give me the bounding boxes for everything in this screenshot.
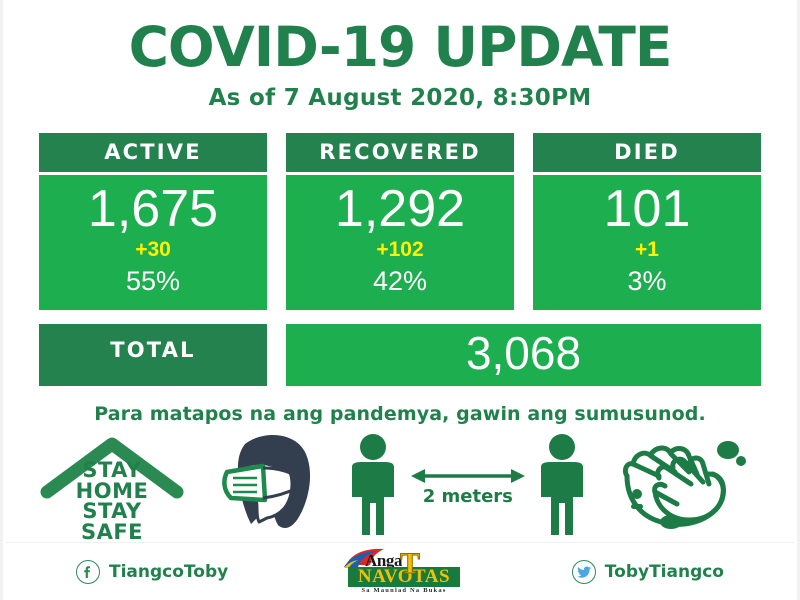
person-right-icon [529, 433, 595, 538]
stay-home-line-4: SAFE [37, 522, 187, 543]
stat-card-died: DIED 101 +1 3% [533, 133, 761, 310]
stay-home-line-1: STAY [37, 460, 187, 481]
total-label: TOTAL [39, 324, 267, 386]
stat-card-active: ACTIVE 1,675 +30 55% [39, 133, 267, 310]
stat-card-recovered: RECOVERED 1,292 +102 42% [286, 133, 514, 310]
handwashing-icon [613, 428, 763, 541]
stat-card-label: RECOVERED [286, 133, 514, 172]
stay-home-line-2: HOME [37, 481, 187, 502]
stat-card-percent: 3% [533, 265, 761, 299]
double-arrow-icon [409, 468, 527, 484]
twitter-handle-label: TobyTiangco [605, 562, 724, 582]
social-distance-icon: 2 meters [340, 430, 595, 538]
stat-card-body: 1,675 +30 55% [39, 175, 267, 310]
stat-card-percent: 55% [39, 265, 267, 299]
stat-card-body: 1,292 +102 42% [286, 175, 514, 310]
stat-card-value: 1,675 [39, 181, 267, 237]
stat-card-value: 1,292 [286, 181, 514, 237]
distance-indicator: 2 meters [409, 430, 527, 538]
stat-card-label: DIED [533, 133, 761, 172]
page-title: COVID-19 UPDATE [3, 0, 797, 75]
total-row: TOTAL 3,068 [3, 310, 797, 386]
stat-card-delta: +1 [533, 237, 761, 263]
stat-cards: ACTIVE 1,675 +30 55% RECOVERED 1,292 +10… [3, 111, 797, 310]
facebook-handle-label: TiangcoToby [109, 562, 228, 582]
advisory-icon-row: STAY HOME STAY SAFE [3, 425, 797, 537]
person-left-icon [340, 433, 406, 538]
stat-card-delta: +102 [286, 237, 514, 263]
stat-card-value: 101 [533, 181, 761, 237]
city-logo-tagline: Sa Maunlad Na Bukas [344, 587, 464, 594]
advisory-tagline: Para matapos na ang pandemya, gawin ang … [3, 403, 797, 425]
page-subtitle: As of 7 August 2020, 8:30PM [3, 85, 797, 111]
distance-label: 2 meters [409, 486, 527, 507]
washing-hands-icon [613, 428, 763, 536]
city-logo: Anga T NAVOTAS Sa Maunlad Na Bukas [336, 547, 464, 597]
stay-home-label: STAY HOME STAY SAFE [37, 460, 187, 542]
stay-home-line-3: STAY [37, 501, 187, 522]
facebook-icon[interactable] [76, 560, 100, 584]
masked-face-icon [205, 428, 323, 536]
twitter-icon[interactable] [572, 560, 596, 584]
stay-home-icon: STAY HOME STAY SAFE [37, 430, 187, 538]
stat-card-delta: +30 [39, 237, 267, 263]
stat-card-label: ACTIVE [39, 133, 267, 172]
twitter-handle[interactable]: TobyTiangco [572, 560, 724, 584]
face-mask-icon [205, 428, 323, 541]
stat-card-body: 101 +1 3% [533, 175, 761, 310]
city-logo-t: T [400, 547, 420, 581]
footer-bar: TiangcoToby Anga T NAVOTAS Sa Maunlad Na… [6, 542, 794, 600]
total-value: 3,068 [286, 324, 761, 386]
facebook-handle[interactable]: TiangcoToby [76, 560, 228, 584]
stat-card-percent: 42% [286, 265, 514, 299]
covid-update-poster: COVID-19 UPDATE As of 7 August 2020, 8:3… [0, 0, 800, 600]
